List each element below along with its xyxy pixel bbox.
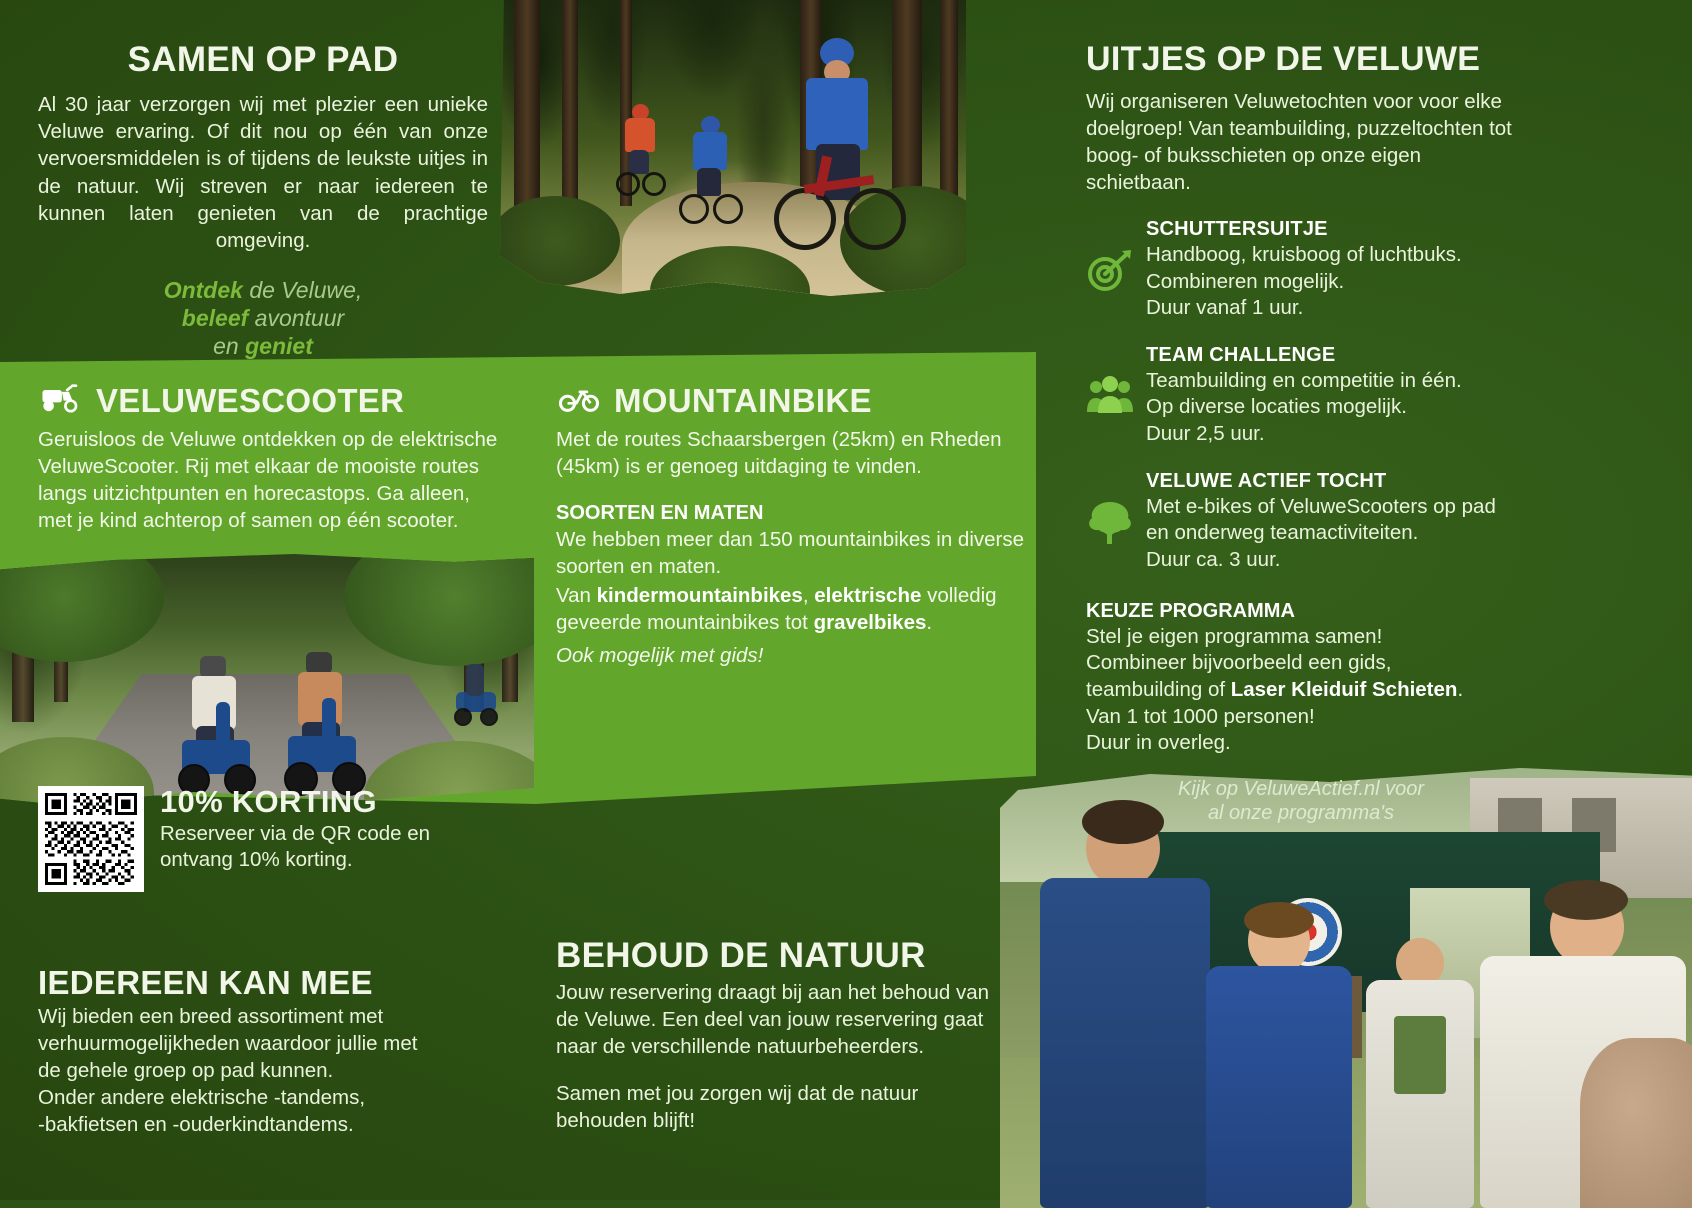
samen-title: SAMEN OP PAD [38,42,488,79]
kijk-line-1: Kijk op VeluweActief.nl voor [1086,777,1516,801]
iedereen-line-1: Wij bieden een breed assortiment met [38,1003,518,1030]
kijk-line-2: al onze programma's [1086,801,1516,825]
veluwescooter-section: VELUWESCOOTER Geruisloos de Veluwe ontde… [38,383,508,535]
keuze-line-3-pre: teambuilding of [1086,678,1231,701]
bicycle-icon [556,383,602,420]
uitje-line: Teambuilding en competitie in één. [1146,368,1516,395]
samen-op-pad-section: SAMEN OP PAD Al 30 jaar verzorgen wij me… [38,42,488,360]
tagline: Ontdek de Veluwe, beleef avontuur en gen… [38,276,488,360]
soorten-en-maten-heading: SOORTEN EN MATEN [556,502,1026,525]
uitje-item-team-challenge: TEAM CHALLENGE Teambuilding en competiti… [1086,344,1516,448]
behoud-paragraph-2: Samen met jou zorgen wij dat de natuur b… [556,1080,1006,1134]
archery-photo [1000,768,1692,1208]
uitje-heading: VELUWE ACTIEF TOCHT [1146,470,1516,493]
tagline-line1-bold: Ontdek [164,277,243,303]
uitje-line: Duur ca. 3 uur. [1146,547,1516,574]
kijk-op-veluweactief: Kijk op VeluweActief.nl voor al onze pro… [1086,777,1516,826]
soorten-p2-mid: , [803,584,814,607]
keuze-line-3-bold: Laser Kleiduif Schieten [1231,678,1458,701]
samen-body: Al 30 jaar verzorgen wij met plezier een… [38,91,488,255]
keuze-line-5: Duur in overleg. [1086,730,1516,757]
uitje-item-veluwe-actief-tocht: VELUWE ACTIEF TOCHT Met e-bikes of Veluw… [1086,470,1516,574]
tagline-line1-rest: de Veluwe, [243,277,362,303]
behoud-de-natuur-section: BEHOUD DE NATUUR Jouw reservering draagt… [556,938,1006,1134]
uitje-line: Handboog, kruisboog of luchtbuks. [1146,242,1516,269]
mountainbike-heading-row: MOUNTAINBIKE [556,383,1026,420]
uitje-line: Met e-bikes of VeluweScooters op pad [1146,494,1516,521]
iedereen-line-3: de gehele groep op pad kunnen. [38,1057,518,1084]
veluwescooter-heading-row: VELUWESCOOTER [38,383,508,420]
uitje-item-schuttersuitje: SCHUTTERSUITJE Handboog, kruisboog of lu… [1086,218,1516,322]
soorten-p2-bold-3: gravelbikes [814,611,927,634]
soorten-p2-bold-2: elektrische [814,584,921,607]
uitjes-title: UITJES OP DE VELUWE [1086,42,1516,78]
keuze-programma-block: KEUZE PROGRAMMA Stel je eigen programma … [1086,600,1516,757]
mountainbikers-photo [500,0,970,306]
soorten-p2-post: . [926,611,932,634]
veluwescooter-title: VELUWESCOOTER [96,384,404,419]
soorten-p2-bold-1: kindermountainbikes [597,584,803,607]
uitje-line: Duur vanaf 1 uur. [1146,295,1516,322]
tagline-line3-rest: en [213,333,245,359]
iedereen-line-5: -bakfietsen en -ouderkindtandems. [38,1111,518,1138]
tree-icon [1086,500,1134,544]
mountainbike-title: MOUNTAINBIKE [614,384,872,419]
soorten-p1: We hebben meer dan 150 mountainbikes in … [556,526,1026,581]
tagline-line2-rest: avontuur [248,305,344,331]
korting-title: 10% KORTING [160,786,430,819]
korting-line-2: ontvang 10% korting. [160,847,430,874]
uitje-line: Op diverse locaties mogelijk. [1146,394,1516,421]
tagline-line2-bold: beleef [182,305,248,331]
uitjes-intro: Wij organiseren Veluwetochten voor voor … [1086,88,1516,196]
uitje-heading: TEAM CHALLENGE [1146,344,1516,367]
behoud-title: BEHOUD DE NATUUR [556,938,1006,975]
uitje-line: Duur 2,5 uur. [1146,421,1516,448]
iedereen-title: IEDEREEN KAN MEE [38,966,518,1001]
behoud-paragraph-1: Jouw reservering draagt bij aan het beho… [556,979,1006,1060]
keuze-line-3: teambuilding of Laser Kleiduif Schieten. [1086,677,1516,704]
keuze-line-2: Combineer bijvoorbeeld een gids, [1086,650,1516,677]
keuze-line-4: Van 1 tot 1000 personen! [1086,704,1516,731]
iedereen-line-4: Onder andere elektrische -tandems, [38,1084,518,1111]
korting-text: 10% KORTING Reserveer via de QR code en … [160,786,430,892]
korting-line-1: Reserveer via de QR code en [160,821,430,848]
soorten-p2: Van kindermountainbikes, elektrische vol… [556,582,1026,637]
mountainbike-body: Met de routes Schaarsbergen (25km) en Rh… [556,426,1026,481]
brochure-page: SAMEN OP PAD Al 30 jaar verzorgen wij me… [0,0,1692,1200]
keuze-heading: KEUZE PROGRAMMA [1086,600,1516,623]
uitje-line: en onderweg teamactiviteiten. [1146,520,1516,547]
mountainbike-section: MOUNTAINBIKE Met de routes Schaarsbergen… [556,383,1026,669]
veluwescooter-body: Geruisloos de Veluwe ontdekken op de ele… [38,426,508,535]
korting-section: 10% KORTING Reserveer via de QR code en … [38,786,508,892]
uitje-heading: SCHUTTERSUITJE [1146,218,1516,241]
uitjes-op-de-veluwe-section: UITJES OP DE VELUWE Wij organiseren Velu… [1086,42,1516,826]
qr-code[interactable] [38,786,144,892]
keuze-line-1: Stel je eigen programma samen! [1086,624,1516,651]
target-arrow-icon [1086,248,1134,292]
gids-note: Ook mogelijk met gids! [556,642,1026,669]
group-people-icon [1086,374,1134,418]
iedereen-kan-mee-section: IEDEREEN KAN MEE Wij bieden een breed as… [38,966,518,1138]
scooters-photo [0,552,534,817]
soorten-p2-pre: Van [556,584,597,607]
iedereen-line-2: verhuurmogelijkheden waardoor jullie met [38,1030,518,1057]
tagline-line3-bold: geniet [245,333,313,359]
uitje-line: Combineren mogelijk. [1146,269,1516,296]
scooter-icon [38,383,84,420]
keuze-line-3-post: . [1457,678,1463,701]
